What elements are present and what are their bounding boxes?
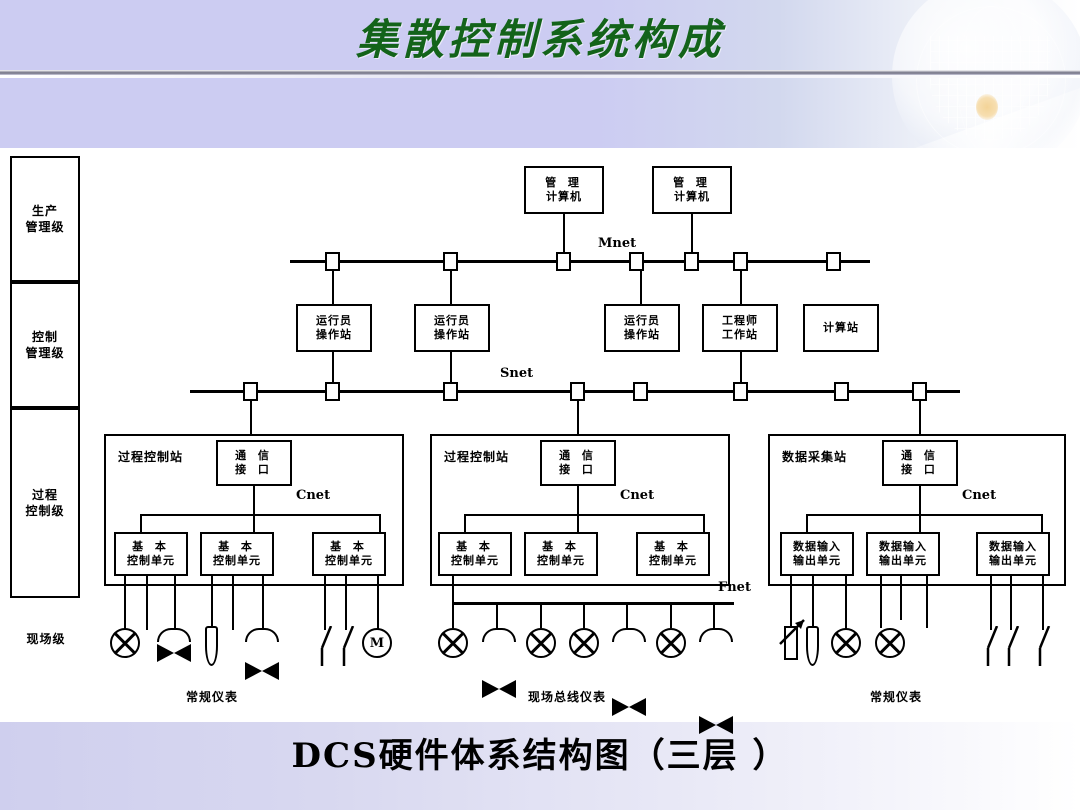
mnet-node bbox=[443, 252, 458, 271]
link-snet-das bbox=[919, 401, 921, 434]
link-interface-cnet bbox=[577, 486, 579, 514]
communication-interface: 通 信 接 口 bbox=[882, 440, 958, 486]
break-line-icon bbox=[984, 626, 1000, 666]
control-valve-icon bbox=[612, 698, 646, 716]
operation-station-2: 运行员 操作站 bbox=[414, 304, 490, 352]
mnet-node bbox=[826, 252, 841, 271]
box-line2: 接 口 bbox=[901, 463, 939, 477]
fnet-drop bbox=[452, 602, 454, 628]
box-line1: 通 信 bbox=[235, 449, 273, 463]
snet-node bbox=[243, 382, 258, 401]
snet-node bbox=[834, 382, 849, 401]
cnet-bus-line bbox=[806, 514, 1042, 516]
link-mnet-eng bbox=[740, 271, 742, 304]
field-wire bbox=[845, 576, 847, 630]
box-line2: 操作站 bbox=[434, 328, 470, 342]
field-wire bbox=[880, 576, 882, 628]
basic-control-unit-3: 基 本 控制单元 bbox=[636, 532, 710, 576]
instrument-group-label-right: 常规仪表 bbox=[870, 688, 922, 705]
data-io-unit-1: 数据输入 输出单元 bbox=[780, 532, 854, 576]
fnet-bus-line bbox=[452, 602, 734, 605]
valve-actuator-icon bbox=[157, 628, 191, 642]
field-wire bbox=[1042, 576, 1044, 630]
level-box-process: 过程 控制级 bbox=[10, 408, 80, 598]
box-line2: 输出单元 bbox=[989, 554, 1037, 568]
link-mnet-calc bbox=[841, 271, 844, 304]
mnet-node bbox=[629, 252, 644, 271]
box-line1: 基 本 bbox=[654, 540, 692, 554]
link-snet-pcs1 bbox=[250, 401, 252, 434]
fnet-label: Fnet bbox=[718, 580, 751, 595]
cnet-drop bbox=[703, 514, 705, 532]
field-wire bbox=[146, 576, 148, 630]
box-line2: 控制单元 bbox=[213, 554, 261, 568]
break-line-icon bbox=[340, 626, 356, 666]
basic-control-unit-2: 基 本 控制单元 bbox=[524, 532, 598, 576]
break-line-icon bbox=[318, 626, 334, 666]
control-valve-icon bbox=[157, 644, 191, 662]
box-line2: 接 口 bbox=[235, 463, 273, 477]
station-name: 过程控制站 bbox=[118, 448, 183, 465]
box-line2: 控制单元 bbox=[537, 554, 585, 568]
box-line1: 基 本 bbox=[330, 540, 368, 554]
box-line1: 通 信 bbox=[901, 449, 939, 463]
field-wire bbox=[900, 576, 902, 620]
mnet-node bbox=[556, 252, 571, 271]
box-line2: 控制单元 bbox=[451, 554, 499, 568]
cnet-bus-line bbox=[464, 514, 704, 516]
box-line2: 操作站 bbox=[316, 328, 352, 342]
box-line1: 基 本 bbox=[132, 540, 170, 554]
fnet-drop bbox=[626, 602, 628, 628]
box-line2: 控制单元 bbox=[127, 554, 175, 568]
box-line1: 基 本 bbox=[218, 540, 256, 554]
field-wire bbox=[1010, 576, 1012, 630]
box-line2: 输出单元 bbox=[879, 554, 927, 568]
break-line-icon bbox=[1036, 626, 1052, 666]
field-sensor-icon bbox=[831, 628, 861, 658]
box-line1: 运行员 bbox=[434, 314, 470, 328]
fnet-drop bbox=[713, 602, 715, 628]
mnet-bus-line bbox=[290, 260, 870, 263]
control-valve-icon bbox=[245, 662, 279, 680]
field-sensor-icon bbox=[438, 628, 468, 658]
box-line1: 管 理 bbox=[545, 176, 583, 190]
mnet-node bbox=[684, 252, 699, 271]
field-sensor-icon bbox=[656, 628, 686, 658]
link-mnet-op3 bbox=[640, 271, 642, 304]
thermowell-icon bbox=[205, 626, 218, 666]
box-line1: 运行员 bbox=[624, 314, 660, 328]
box-line1: 基 本 bbox=[456, 540, 494, 554]
snet-node bbox=[443, 382, 458, 401]
snet-node bbox=[325, 382, 340, 401]
field-wire bbox=[990, 576, 992, 630]
box-line2: 操作站 bbox=[624, 328, 660, 342]
operation-station-3: 运行员 操作站 bbox=[604, 304, 680, 352]
box-line2: 接 口 bbox=[559, 463, 597, 477]
box-line1: 数据输入 bbox=[793, 540, 841, 554]
level-label-line1: 生产 bbox=[32, 204, 58, 218]
field-sensor-icon bbox=[875, 628, 905, 658]
field-wire bbox=[452, 576, 454, 602]
field-wire bbox=[232, 576, 234, 630]
box-line2: 控制单元 bbox=[649, 554, 697, 568]
box-line2: 输出单元 bbox=[793, 554, 841, 568]
link-mgmt1-mnet bbox=[563, 214, 565, 253]
page-title: 集散控制系统构成 bbox=[0, 6, 1080, 67]
fnet-drop bbox=[496, 602, 498, 628]
box-line2: 计算机 bbox=[546, 190, 582, 204]
dcs-architecture-diagram: 生产 管理级 控制 管理级 过程 控制级 现场级 管 理 计算机 管 理 计算机… bbox=[0, 148, 1080, 722]
level-label-line2: 控制级 bbox=[25, 504, 64, 518]
basic-control-unit-3: 基 本 控制单元 bbox=[312, 532, 386, 576]
link-interface-cnet bbox=[919, 486, 921, 514]
cnet-label: Cnet bbox=[962, 488, 996, 503]
communication-interface: 通 信 接 口 bbox=[216, 440, 292, 486]
basic-control-unit-1: 基 本 控制单元 bbox=[438, 532, 512, 576]
control-valve-icon bbox=[482, 680, 516, 698]
data-io-unit-2: 数据输入 输出单元 bbox=[866, 532, 940, 576]
station-name: 数据采集站 bbox=[782, 448, 847, 465]
basic-control-unit-2: 基 本 控制单元 bbox=[200, 532, 274, 576]
box-line1: 计算站 bbox=[823, 321, 859, 335]
level-box-control: 控制 管理级 bbox=[10, 282, 80, 408]
field-wire bbox=[812, 576, 814, 630]
box-line2: 控制单元 bbox=[325, 554, 373, 568]
compute-station: 计算站 bbox=[803, 304, 879, 352]
field-sensor-icon bbox=[569, 628, 599, 658]
box-line1: 管 理 bbox=[673, 176, 711, 190]
mnet-label: Mnet bbox=[598, 236, 636, 251]
link-op1-snet bbox=[332, 352, 334, 384]
header-divider-shadow bbox=[0, 75, 1080, 78]
box-line1: 数据输入 bbox=[879, 540, 927, 554]
box-line2: 工作站 bbox=[722, 328, 758, 342]
control-valve-icon bbox=[699, 716, 733, 734]
box-line1: 数据输入 bbox=[989, 540, 1037, 554]
station-name: 过程控制站 bbox=[444, 448, 509, 465]
instrument-group-label-middle: 现场总线仪表 bbox=[528, 688, 606, 705]
box-line2: 计算机 bbox=[674, 190, 710, 204]
link-mgmt2-mnet bbox=[691, 214, 693, 253]
link-calc-snet bbox=[841, 352, 844, 384]
cnet-drop bbox=[253, 514, 255, 532]
field-level-label: 现场级 bbox=[14, 630, 78, 647]
field-sensor-icon bbox=[526, 628, 556, 658]
motor-icon: M bbox=[362, 628, 392, 658]
mnet-node bbox=[325, 252, 340, 271]
globe-highlight-icon bbox=[976, 94, 998, 120]
break-line-icon bbox=[1005, 626, 1021, 666]
cnet-bus-line bbox=[140, 514, 380, 516]
snet-node bbox=[570, 382, 585, 401]
field-wire bbox=[345, 576, 347, 630]
box-line1: 基 本 bbox=[542, 540, 580, 554]
basic-control-unit-1: 基 本 控制单元 bbox=[114, 532, 188, 576]
fnet-drop bbox=[540, 602, 542, 628]
level-label-line2: 管理级 bbox=[25, 346, 64, 360]
thermowell-icon bbox=[806, 626, 819, 666]
management-computer-2: 管 理 计算机 bbox=[652, 166, 732, 214]
level-box-production: 生产 管理级 bbox=[10, 156, 80, 282]
data-io-unit-3: 数据输入 输出单元 bbox=[976, 532, 1050, 576]
instrument-group-label-left: 常规仪表 bbox=[186, 688, 238, 705]
cnet-drop bbox=[577, 514, 579, 532]
valve-actuator-icon bbox=[482, 628, 516, 642]
box-line1: 运行员 bbox=[316, 314, 352, 328]
cnet-drop bbox=[919, 514, 921, 532]
cnet-label: Cnet bbox=[296, 488, 330, 503]
arrow-icon bbox=[778, 616, 808, 646]
management-computer-1: 管 理 计算机 bbox=[524, 166, 604, 214]
valve-actuator-icon bbox=[699, 628, 733, 642]
cnet-drop bbox=[464, 514, 466, 532]
cnet-drop bbox=[379, 514, 381, 532]
cnet-drop bbox=[806, 514, 808, 532]
link-eng-snet bbox=[740, 352, 742, 384]
snet-label: Snet bbox=[500, 366, 533, 381]
link-mnet-op1 bbox=[332, 271, 334, 304]
figure-caption: DCS硬件体系结构图（三层 ） bbox=[0, 728, 1080, 777]
engineer-station: 工程师 工作站 bbox=[702, 304, 778, 352]
link-interface-cnet bbox=[253, 486, 255, 514]
level-label-line1: 控制 bbox=[32, 330, 58, 344]
snet-node bbox=[912, 382, 927, 401]
operation-station-1: 运行员 操作站 bbox=[296, 304, 372, 352]
field-sensor-icon bbox=[110, 628, 140, 658]
mnet-node bbox=[733, 252, 748, 271]
link-op3-snet bbox=[640, 352, 643, 384]
box-line1: 通 信 bbox=[559, 449, 597, 463]
cnet-label: Cnet bbox=[620, 488, 654, 503]
snet-node bbox=[733, 382, 748, 401]
snet-node bbox=[633, 382, 648, 401]
fnet-drop bbox=[583, 602, 585, 628]
cnet-drop bbox=[1041, 514, 1043, 532]
level-label-line1: 过程 bbox=[32, 488, 58, 502]
valve-actuator-icon bbox=[612, 628, 646, 642]
valve-actuator-icon bbox=[245, 628, 279, 642]
link-snet-pcs2 bbox=[577, 401, 579, 434]
box-line1: 工程师 bbox=[722, 314, 758, 328]
link-op2-snet bbox=[450, 352, 452, 384]
level-label-line2: 管理级 bbox=[25, 220, 64, 234]
fnet-drop bbox=[670, 602, 672, 628]
link-mnet-op2 bbox=[450, 271, 452, 304]
communication-interface: 通 信 接 口 bbox=[540, 440, 616, 486]
field-wire bbox=[926, 576, 928, 628]
cnet-drop bbox=[140, 514, 142, 532]
field-wire bbox=[324, 576, 326, 630]
